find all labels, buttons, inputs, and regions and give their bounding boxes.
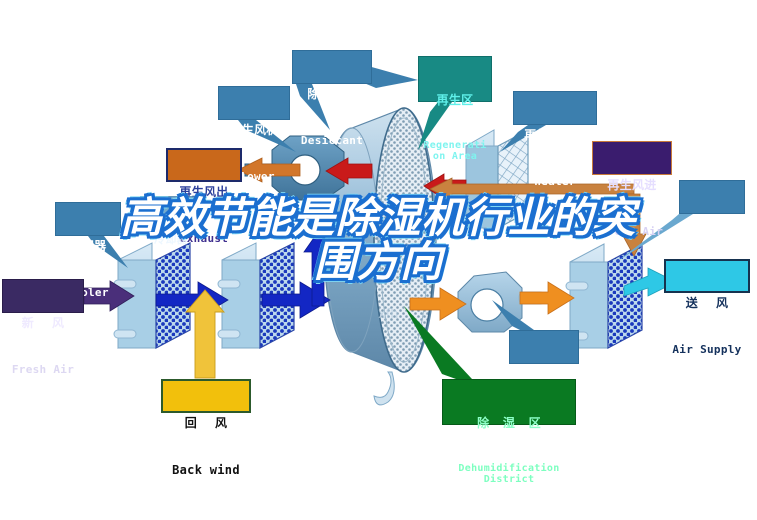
- label-cooler-right[interactable]: 冷却器 Cooler: [679, 180, 745, 214]
- label-regeneration-blower-cn: 再生风机: [219, 124, 289, 137]
- label-regeneration-heater-en: heater: [514, 176, 596, 188]
- label-cooler-middle[interactable]: 冷却器: [140, 196, 202, 216]
- label-dehumidification-district-en: Dehumidification District: [443, 464, 575, 486]
- label-dehumidification-district-cn: 除 湿 区: [443, 417, 575, 430]
- label-fresh-air-inlet-en: Fresh Air: [3, 364, 83, 376]
- label-cooler-left-cn: 冷却器: [56, 240, 120, 253]
- label-fresh-air-inlet-cn: 新 风: [3, 317, 83, 330]
- label-regeneration-heater[interactable]: 再生加热器 heater: [513, 91, 597, 125]
- label-regeneration-fresh-air[interactable]: 再生风进 Fresh Air: [592, 141, 672, 175]
- label-air-supply[interactable]: 送 风 Air Supply: [664, 259, 750, 293]
- label-exhaust[interactable]: 再生风出 Exhaust: [166, 148, 242, 182]
- label-regeneration-area-en: Regenerati on Area: [419, 141, 491, 163]
- label-cooler-right-cn: 冷却器: [680, 218, 744, 231]
- label-back-wind-en: Back wind: [163, 464, 249, 477]
- label-regeneration-heater-cn: 再生加热器: [514, 129, 596, 142]
- label-cooler-left[interactable]: 冷却器 Cooler: [55, 202, 121, 236]
- label-air-supply-en: Air Supply: [666, 344, 748, 356]
- label-regeneration-fresh-air-cn: 再生风进: [593, 179, 671, 192]
- label-back-wind-cn: 回 风: [163, 417, 249, 430]
- label-dehumidification-blower[interactable]: 除湿风机 Blower: [509, 330, 579, 364]
- label-fresh-air-inlet[interactable]: 新 风 Fresh Air: [2, 279, 84, 313]
- label-regeneration-area[interactable]: 再生区 Regenerati on Area: [418, 56, 492, 102]
- watermark-text: xfh: [378, 307, 399, 322]
- label-desiccant-rotor-cn: 除湿转轮: [293, 88, 371, 101]
- diagram-canvas: xfh: [0, 0, 757, 488]
- label-desiccant-rotor[interactable]: 除湿转轮 Desiccant: [292, 50, 372, 84]
- label-regeneration-blower[interactable]: 再生风机 Blower: [218, 86, 290, 120]
- label-dehumidification-district[interactable]: 除 湿 区 Dehumidification District: [442, 379, 576, 425]
- label-regeneration-fresh-air-en: Fresh Air: [593, 226, 671, 238]
- label-regeneration-area-cn: 再生区: [419, 94, 491, 107]
- label-back-wind[interactable]: 回 风 Back wind: [161, 379, 251, 413]
- label-desiccant-rotor-en: Desiccant: [293, 135, 371, 147]
- label-cooler-middle-cn: 冷却器: [141, 234, 201, 246]
- label-air-supply-cn: 送 风: [666, 297, 748, 310]
